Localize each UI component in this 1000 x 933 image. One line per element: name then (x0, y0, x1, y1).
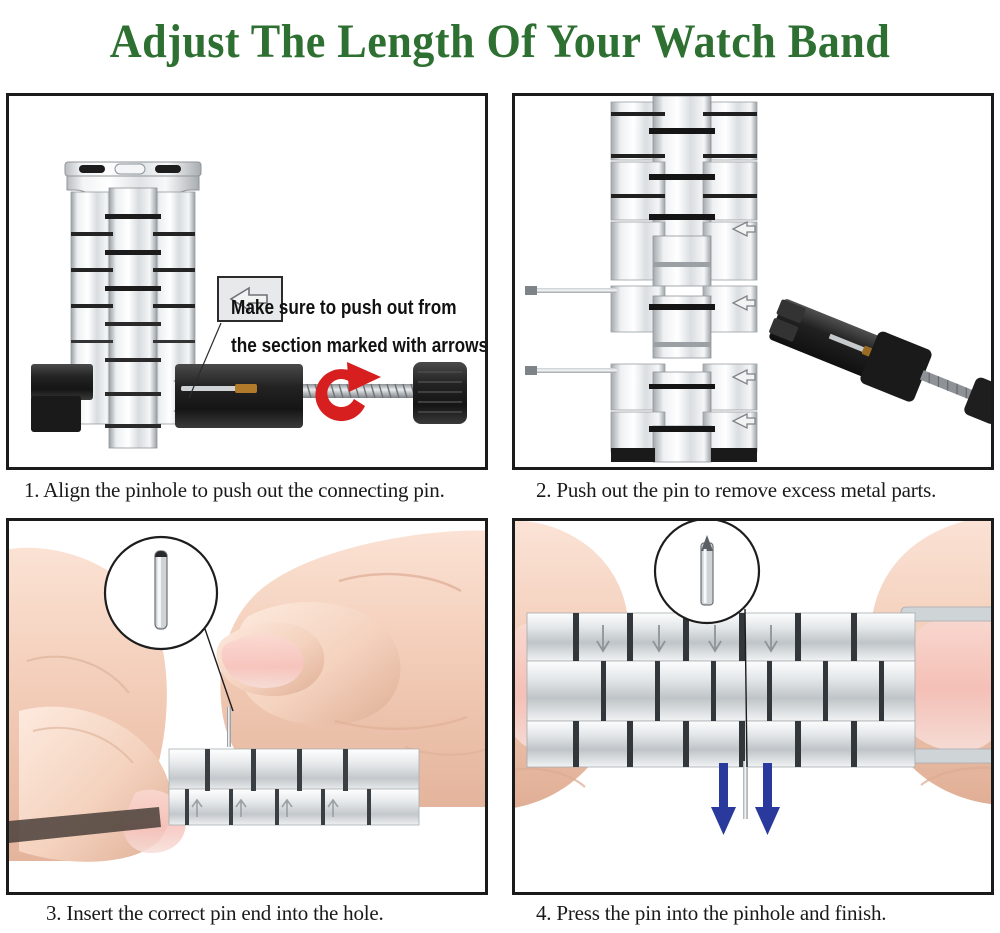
watch-pin (743, 761, 748, 819)
band-link-column-center (109, 188, 157, 448)
pin-removal-tool (764, 292, 991, 435)
panel-step-4: Press down in a flat place to complete t… (512, 518, 994, 895)
tool-knob (413, 362, 467, 424)
caption-step-2: 2. Push out the pin to remove excess met… (536, 478, 936, 503)
panel-3-illustration (9, 521, 485, 892)
watch-band (527, 613, 915, 767)
panel-step-1: Make sure to push out from the section m… (6, 93, 488, 470)
caption-step-3: 3. Insert the correct pin end into the h… (46, 901, 384, 926)
panel-step-2: Need to remove two pins to remove a sect… (512, 93, 994, 470)
removed-pin-2 (525, 366, 617, 375)
panel-1-instruction-line-2: the section marked with arrows (231, 336, 488, 356)
removed-pin-1 (525, 286, 617, 295)
page-title: Adjust The Length Of Your Watch Band (40, 14, 960, 69)
caption-step-1: 1. Align the pinhole to push out the con… (24, 478, 445, 503)
band-segment-top (611, 96, 757, 286)
panel-4-illustration (515, 521, 991, 892)
panel-2-illustration (515, 96, 991, 467)
panel-1-instruction-line-1: Make sure to push out from (231, 298, 457, 318)
caption-step-4: 4. Press the pin into the pinhole and fi… (536, 901, 886, 926)
panel-1-illustration (9, 96, 485, 467)
watch-pin (227, 707, 231, 747)
pin-removal-tool-right-body (175, 364, 303, 428)
panel-step-3: Make sure the smaller end of the pin is … (6, 518, 488, 895)
band-segment-bottom (611, 364, 757, 462)
band-segment-middle (611, 286, 757, 358)
instruction-poster: Adjust The Length Of Your Watch Band (0, 0, 1000, 933)
